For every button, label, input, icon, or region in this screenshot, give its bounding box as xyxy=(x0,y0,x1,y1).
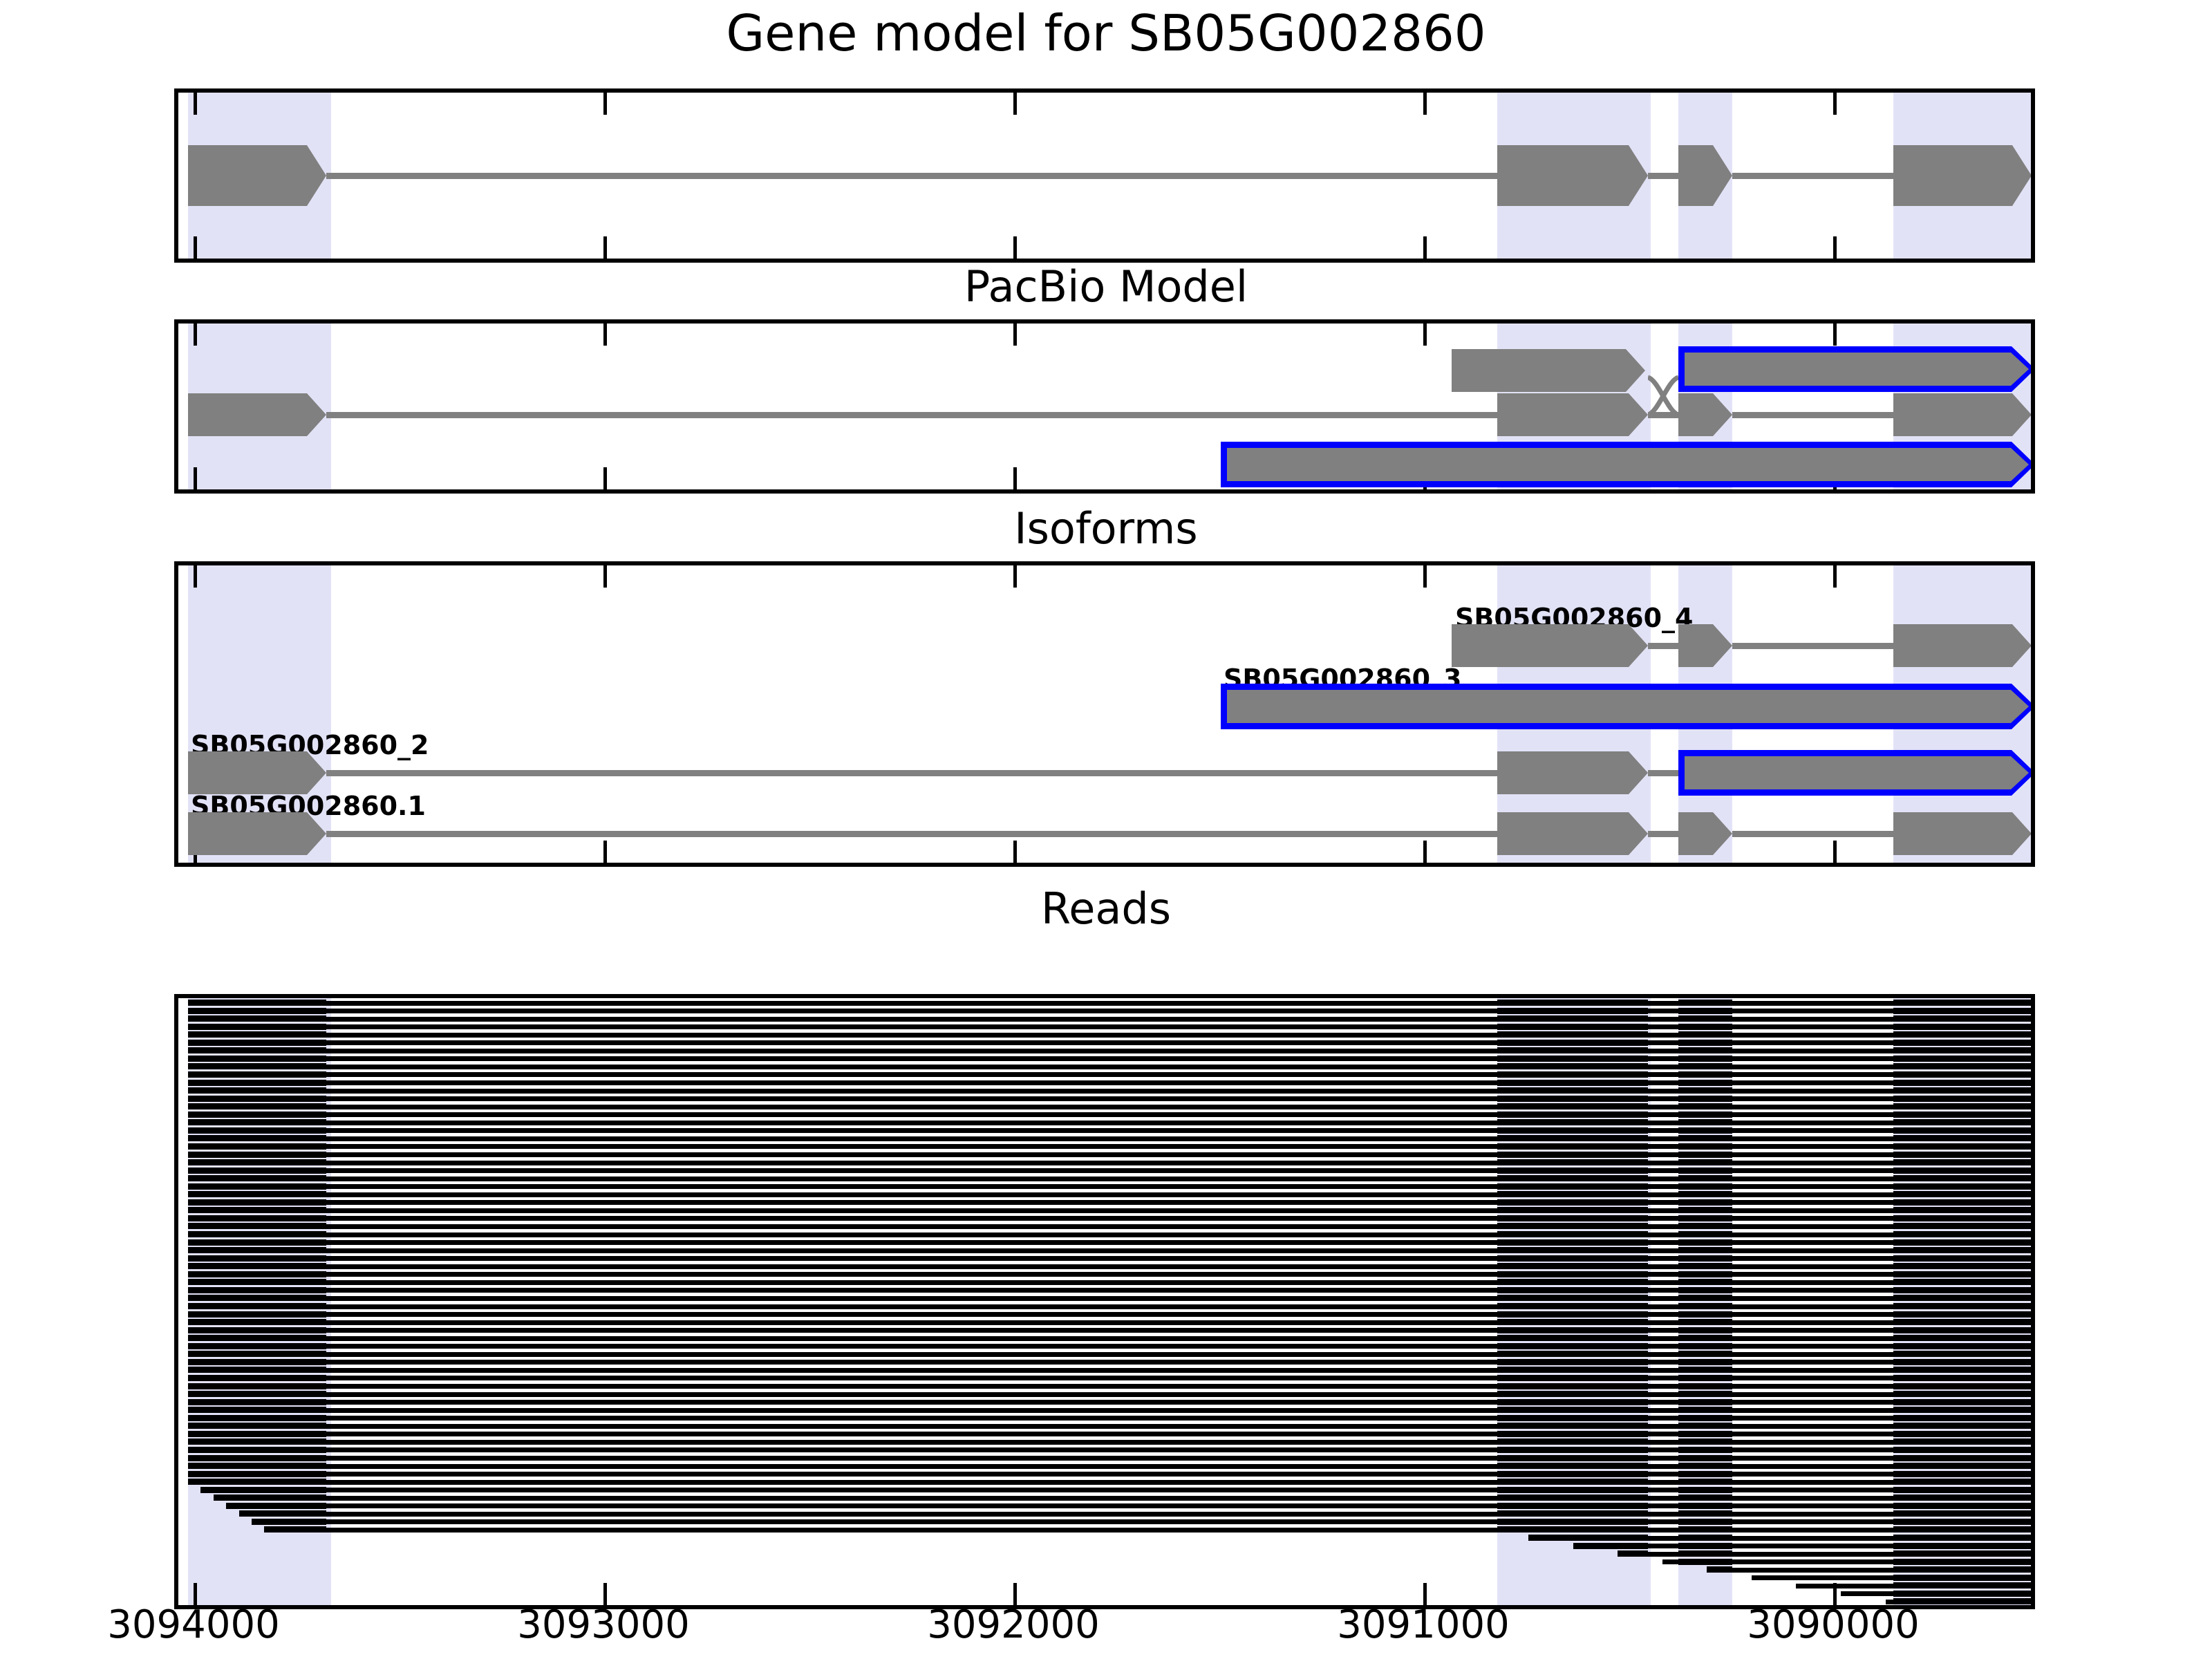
read-backbone xyxy=(188,1192,2031,1197)
read-backbone xyxy=(188,1280,2031,1285)
read-exon-block xyxy=(1497,1119,1648,1125)
read-backbone xyxy=(188,1464,2031,1469)
read-exon-block xyxy=(1497,1063,1648,1069)
gene-model-exon2 xyxy=(1497,145,1648,206)
read-exon-block xyxy=(1893,1056,2031,1062)
read-exon-block xyxy=(1893,1152,2031,1158)
read-exon-block xyxy=(1893,1183,2031,1190)
read-exon-block xyxy=(1497,1040,1648,1046)
read-exon-block xyxy=(1678,1455,1732,1461)
transcript-body xyxy=(1227,690,2029,723)
read-exon-block xyxy=(1678,1503,1732,1509)
isoform-exon-4 xyxy=(1893,812,2032,855)
read-backbone xyxy=(188,1121,2031,1125)
read-backbone xyxy=(188,1224,2031,1229)
read-exon-block xyxy=(188,1071,326,1078)
gene-model-exon1 xyxy=(188,145,326,206)
read-backbone xyxy=(188,1017,2031,1022)
read-backbone xyxy=(188,1168,2031,1173)
read-exon-block xyxy=(188,1199,326,1206)
read-exon-block xyxy=(1497,1295,1648,1301)
read-backbone xyxy=(188,1024,2031,1029)
read-exon-block xyxy=(1678,1239,1732,1246)
read-exon-block xyxy=(1678,1112,1732,1118)
read-exon-block xyxy=(1497,1255,1648,1262)
read-exon-block xyxy=(188,1463,326,1469)
isoform-highlighted-exon xyxy=(1678,750,2035,796)
read-backbone xyxy=(188,1440,2031,1445)
read-exon-block xyxy=(1893,1407,2031,1413)
read-backbone xyxy=(188,1384,2031,1389)
read-exon-block xyxy=(1678,1183,1732,1190)
read-backbone xyxy=(188,1072,2031,1077)
read-exon-block xyxy=(1497,1056,1648,1062)
read-exon-block xyxy=(1678,1519,1732,1525)
axis-tick-bottom xyxy=(194,236,197,259)
read-exon-block xyxy=(188,1168,326,1174)
read-exon-block xyxy=(1497,1471,1648,1477)
read-exon-block xyxy=(1893,1199,2031,1206)
read-exon-block xyxy=(188,1255,326,1262)
isoform-intron xyxy=(326,770,1497,776)
read-exon-block xyxy=(188,1152,326,1158)
read-backbone xyxy=(188,1472,2031,1477)
read-exon-block xyxy=(1497,1415,1648,1421)
read-exon-block xyxy=(1893,1343,2031,1349)
read-exon-block xyxy=(188,1159,326,1165)
read-backbone xyxy=(188,1240,2031,1245)
read-backbone xyxy=(188,1447,2031,1452)
isoform-intron xyxy=(1648,643,1678,649)
read-backbone xyxy=(188,1105,2031,1109)
read-exon-block xyxy=(1497,1247,1648,1253)
axis-tick-top xyxy=(1833,565,1837,588)
read-exon-block xyxy=(1678,1351,1732,1357)
read-exon-block xyxy=(1497,1487,1648,1493)
read-exon-block xyxy=(1497,1024,1648,1030)
read-exon-block xyxy=(188,1455,326,1461)
axis-tick-top xyxy=(1833,93,1837,115)
read-exon-block xyxy=(239,1510,326,1517)
read-backbone xyxy=(226,1503,2031,1508)
read-exon-block xyxy=(1497,1303,1648,1309)
read-exon-block xyxy=(1893,1015,2031,1022)
read-exon-block xyxy=(1893,1431,2031,1437)
read-exon-block xyxy=(1893,1135,2031,1141)
read-backbone xyxy=(188,1033,2031,1038)
isoform-highlighted-transcript xyxy=(1221,684,2035,729)
read-backbone xyxy=(188,1360,2031,1365)
read-exon-block xyxy=(1893,1215,2031,1221)
axis-tick-top xyxy=(1833,324,1837,346)
read-exon-block xyxy=(1893,1367,2031,1373)
read-exon-block xyxy=(1893,1311,2031,1318)
read-exon-block xyxy=(1678,1159,1732,1165)
isoform-exon-1 xyxy=(188,751,326,794)
read-exon-block xyxy=(1678,1543,1732,1549)
read-exon-block xyxy=(1893,1359,2031,1365)
read-exon-block xyxy=(1678,1327,1732,1333)
read-exon-block xyxy=(1678,1367,1732,1373)
read-exon-block xyxy=(1893,1112,2031,1118)
read-exon-block xyxy=(1893,1375,2031,1381)
read-exon-block xyxy=(1893,1535,2031,1541)
read-exon-block xyxy=(188,1271,326,1277)
read-backbone xyxy=(188,1184,2031,1189)
read-exon-block xyxy=(188,1438,326,1445)
x-axis-tick-label: 3093000 xyxy=(465,1602,742,1647)
read-exon-block xyxy=(1893,1423,2031,1429)
read-exon-block xyxy=(1893,1087,2031,1094)
read-exon-block xyxy=(1678,1359,1732,1365)
read-exon-block xyxy=(188,1087,326,1094)
read-exon-block xyxy=(1893,1223,2031,1229)
read-backbone xyxy=(188,1432,2031,1436)
pacbio-panel-title: PacBio Model xyxy=(0,261,2212,312)
pacbio-highlighted-transcript-top xyxy=(1678,346,2035,392)
read-exon-block xyxy=(1678,1407,1732,1413)
read-exon-block xyxy=(188,1103,326,1109)
pacbio-exon-4 xyxy=(1893,393,2032,436)
read-exon-block xyxy=(1678,1343,1732,1349)
x-axis-tick-label: 3092000 xyxy=(875,1602,1152,1647)
read-exon-block xyxy=(1497,1000,1648,1006)
axis-tick-bottom xyxy=(603,841,607,863)
pacbio-exon-1 xyxy=(188,393,326,436)
read-exon-block xyxy=(1678,1247,1732,1253)
read-exon-block xyxy=(1678,1152,1732,1158)
read-exon-block xyxy=(1893,1263,2031,1269)
read-exon-block xyxy=(1893,1159,2031,1165)
read-backbone xyxy=(200,1488,2031,1492)
read-exon-block xyxy=(1678,1447,1732,1453)
axis-tick-top xyxy=(194,324,197,346)
read-exon-block xyxy=(1497,1519,1648,1525)
read-exon-block xyxy=(188,1279,326,1285)
read-exon-block xyxy=(1678,1080,1732,1086)
read-backbone xyxy=(188,1161,2031,1165)
isoform-exon-1 xyxy=(188,812,326,855)
read-exon-block xyxy=(1893,1494,2031,1501)
read-exon-block xyxy=(188,1000,326,1006)
axis-tick-bottom xyxy=(1013,467,1017,489)
read-backbone xyxy=(188,1416,2031,1421)
read-exon-block xyxy=(188,1239,326,1246)
read-exon-block xyxy=(1497,1447,1648,1453)
read-backbone xyxy=(188,1376,2031,1380)
read-exon-block xyxy=(1497,1096,1648,1102)
read-exon-block xyxy=(1893,1047,2031,1053)
read-exon-block xyxy=(1497,1080,1648,1086)
read-backbone xyxy=(188,1009,2031,1013)
read-exon-block xyxy=(1678,1087,1732,1094)
read-exon-block xyxy=(1497,1047,1648,1053)
read-exon-block xyxy=(1893,1319,2031,1325)
read-exon-block xyxy=(252,1519,326,1525)
read-exon-block xyxy=(1497,1526,1648,1533)
read-backbone xyxy=(188,1352,2031,1357)
read-exon-block xyxy=(1497,1455,1648,1461)
read-exon-block xyxy=(188,1215,326,1221)
gene-model-intron xyxy=(326,173,1497,179)
read-exon-block xyxy=(1497,1135,1648,1141)
read-exon-block xyxy=(1678,1383,1732,1389)
isoforms-panel: SB05G002860_4SB05G002860_3SB05G002860_2S… xyxy=(174,561,2035,867)
read-exon-block xyxy=(1893,1175,2031,1181)
read-exon-block xyxy=(1497,1494,1648,1501)
read-exon-block xyxy=(188,1399,326,1405)
read-backbone xyxy=(188,1456,2031,1461)
read-exon-block xyxy=(1497,1510,1648,1517)
read-exon-block xyxy=(1678,1191,1732,1197)
read-exon-block xyxy=(1678,1319,1732,1325)
read-exon-block xyxy=(1573,1543,1648,1549)
read-exon-block xyxy=(1893,1582,2031,1588)
read-exon-block xyxy=(1678,1399,1732,1405)
read-exon-block xyxy=(1678,1215,1732,1221)
read-exon-block xyxy=(1497,1423,1648,1429)
reads-panel-title: Reads xyxy=(0,883,2212,934)
read-exon-block xyxy=(1678,1263,1732,1269)
page-title: Gene model for SB05G002860 xyxy=(0,4,2212,62)
read-exon-block xyxy=(1497,1159,1648,1165)
read-exon-block xyxy=(1497,1343,1648,1349)
read-exon-block xyxy=(1893,1479,2031,1485)
read-exon-block xyxy=(1893,1550,2031,1557)
read-backbone xyxy=(188,1392,2031,1397)
read-exon-block xyxy=(188,1423,326,1429)
read-backbone xyxy=(214,1496,2031,1501)
read-exon-block xyxy=(1678,1438,1732,1445)
read-exon-block xyxy=(188,1375,326,1381)
read-exon-block xyxy=(1678,1295,1732,1301)
read-exon-block xyxy=(1678,1255,1732,1262)
transcript-body xyxy=(1227,448,2029,481)
isoform-intron xyxy=(1732,643,1893,649)
pacbio-exon-top xyxy=(1452,349,1645,392)
read-backbone xyxy=(188,1112,2031,1117)
read-exon-block xyxy=(188,1351,326,1357)
read-exon-block xyxy=(1528,1535,1648,1541)
read-exon-block xyxy=(1678,1119,1732,1125)
axis-tick-top xyxy=(1423,324,1427,346)
read-exon-block xyxy=(1497,1391,1648,1397)
read-exon-block xyxy=(188,1359,326,1365)
read-exon-block xyxy=(1497,1311,1648,1318)
read-exon-block xyxy=(1893,1000,2031,1006)
read-exon-block xyxy=(188,1119,326,1125)
read-exon-block xyxy=(1497,1367,1648,1373)
read-backbone xyxy=(188,1128,2031,1133)
read-exon-block xyxy=(1497,1503,1648,1509)
read-exon-block xyxy=(188,1295,326,1301)
read-exon-block xyxy=(1618,1550,1648,1557)
read-exon-block xyxy=(188,1112,326,1118)
isoform-intron xyxy=(1648,770,1678,776)
read-exon-block xyxy=(1497,1463,1648,1469)
read-exon-block xyxy=(188,1191,326,1197)
read-exon-block xyxy=(188,1047,326,1053)
read-exon-block xyxy=(188,1447,326,1453)
gene-model-exon4 xyxy=(1893,145,2032,206)
gene-model-intron xyxy=(1648,173,1678,179)
read-exon-block xyxy=(1893,1438,2031,1445)
read-exon-block xyxy=(1497,1271,1648,1277)
gene-model-panel xyxy=(174,88,2035,263)
read-exon-block xyxy=(188,1024,326,1030)
transcript-body xyxy=(1685,353,2029,386)
read-exon-block xyxy=(1678,1526,1732,1533)
read-exon-block xyxy=(1678,1303,1732,1309)
read-exon-block xyxy=(1893,1040,2031,1046)
read-exon-block xyxy=(1497,1215,1648,1221)
read-exon-block xyxy=(1497,1112,1648,1118)
read-backbone xyxy=(188,1368,2031,1373)
axis-tick-bottom xyxy=(1833,841,1837,863)
read-exon-block xyxy=(1678,1231,1732,1237)
read-exon-block xyxy=(1497,1127,1648,1134)
read-exon-block xyxy=(1497,1207,1648,1213)
read-exon-block xyxy=(1678,1207,1732,1213)
read-exon-block xyxy=(188,1303,326,1309)
read-exon-block xyxy=(188,1127,326,1134)
axis-tick-top xyxy=(1013,324,1017,346)
read-exon-block xyxy=(1678,1415,1732,1421)
read-exon-block xyxy=(1678,1279,1732,1285)
read-exon-block xyxy=(1497,1375,1648,1381)
read-exon-block xyxy=(1497,1279,1648,1285)
isoform-exon-1 xyxy=(1452,624,1648,667)
axis-tick-bottom xyxy=(1013,236,1017,259)
read-exon-block xyxy=(188,1327,326,1333)
isoform-intron xyxy=(326,831,1497,837)
read-exon-block xyxy=(264,1526,326,1533)
axis-tick-bottom xyxy=(603,467,607,489)
axis-tick-top xyxy=(194,565,197,588)
read-backbone xyxy=(188,1001,2031,1006)
read-exon-block xyxy=(1497,1239,1648,1246)
read-exon-block xyxy=(1893,1591,2031,1597)
read-exon-block xyxy=(1893,1231,2031,1237)
read-exon-block xyxy=(1893,1559,2031,1565)
read-backbone xyxy=(188,1312,2031,1317)
axis-tick-top xyxy=(194,93,197,115)
read-exon-block xyxy=(188,1231,326,1237)
transcript-body xyxy=(1685,756,2029,789)
read-backbone xyxy=(252,1519,2031,1524)
read-exon-block xyxy=(1678,1127,1732,1134)
read-exon-block xyxy=(188,1383,326,1389)
read-exon-block xyxy=(1678,1096,1732,1102)
read-exon-block xyxy=(1678,1031,1732,1038)
read-exon-block xyxy=(1497,1383,1648,1389)
read-exon-block xyxy=(188,1175,326,1181)
read-exon-block xyxy=(1893,1207,2031,1213)
isoform-exon-2 xyxy=(1497,751,1648,794)
read-exon-block xyxy=(1893,1071,2031,1078)
read-backbone xyxy=(188,1424,2031,1429)
read-exon-block xyxy=(1893,1526,2031,1533)
read-exon-block xyxy=(1678,1311,1732,1318)
read-backbone xyxy=(188,1296,2031,1301)
read-exon-block xyxy=(1678,1271,1732,1277)
read-exon-block xyxy=(1678,1063,1732,1069)
read-exon-block xyxy=(1678,1487,1732,1493)
read-exon-block xyxy=(188,1063,326,1069)
read-exon-block xyxy=(1893,1519,2031,1525)
read-exon-block xyxy=(1678,1015,1732,1022)
read-exon-block xyxy=(1678,1431,1732,1437)
read-exon-block xyxy=(1678,1463,1732,1469)
read-exon-block xyxy=(188,1311,326,1318)
read-backbone xyxy=(188,1080,2031,1085)
read-exon-block xyxy=(188,1015,326,1022)
read-exon-block xyxy=(1497,1479,1648,1485)
axis-tick-top xyxy=(1423,565,1427,588)
reads-panel xyxy=(174,994,2035,1609)
read-exon-block xyxy=(188,1223,326,1229)
read-exon-block xyxy=(1678,1494,1732,1501)
read-exon-block xyxy=(1678,1000,1732,1006)
read-exon-block xyxy=(1893,1247,2031,1253)
pacbio-intron xyxy=(1732,412,1893,418)
read-backbone xyxy=(188,1264,2031,1269)
read-backbone xyxy=(188,1136,2031,1141)
axis-tick-bottom xyxy=(194,467,197,489)
read-exon-block xyxy=(1497,1183,1648,1190)
read-exon-block xyxy=(188,1056,326,1062)
read-backbone xyxy=(188,1216,2031,1221)
isoform-intron xyxy=(1732,831,1893,837)
read-exon-block xyxy=(1678,1535,1732,1541)
read-backbone xyxy=(188,1096,2031,1101)
read-exon-block xyxy=(1678,1471,1732,1477)
read-exon-block xyxy=(1678,1423,1732,1429)
read-exon-block xyxy=(1497,1008,1648,1014)
read-exon-block xyxy=(1893,1463,2031,1469)
axis-tick-top xyxy=(603,324,607,346)
read-exon-block xyxy=(1497,1223,1648,1229)
axis-tick-bottom xyxy=(1833,236,1837,259)
x-axis-tick-label: 3091000 xyxy=(1285,1602,1562,1647)
x-axis-tick-label: 3090000 xyxy=(1695,1602,1971,1647)
axis-tick-top xyxy=(603,93,607,115)
read-backbone xyxy=(188,1065,2031,1069)
read-exon-block xyxy=(1893,1024,2031,1030)
read-exon-block xyxy=(188,1207,326,1213)
read-exon-block xyxy=(1497,1335,1648,1341)
read-exon-block xyxy=(1893,1143,2031,1150)
read-backbone xyxy=(188,1304,2031,1309)
read-exon-block xyxy=(1893,1399,2031,1405)
read-exon-block xyxy=(188,1343,326,1349)
read-exon-block xyxy=(1678,1008,1732,1014)
read-exon-block xyxy=(1678,1143,1732,1150)
read-exon-block xyxy=(188,1263,326,1269)
read-backbone xyxy=(188,1089,2031,1094)
pacbio-highlighted-transcript-bottom xyxy=(1221,442,2035,487)
read-backbone xyxy=(188,1152,2031,1157)
read-exon-block xyxy=(188,1335,326,1341)
read-exon-block xyxy=(188,1247,326,1253)
read-exon-block xyxy=(1678,1510,1732,1517)
read-exon-block xyxy=(1893,1080,2031,1086)
isoform-exon-3 xyxy=(1893,624,2032,667)
isoforms-panel-title: Isoforms xyxy=(0,503,2212,554)
read-backbone xyxy=(188,1344,2031,1349)
read-exon-block xyxy=(1497,1168,1648,1174)
read-exon-block xyxy=(1678,1375,1732,1381)
